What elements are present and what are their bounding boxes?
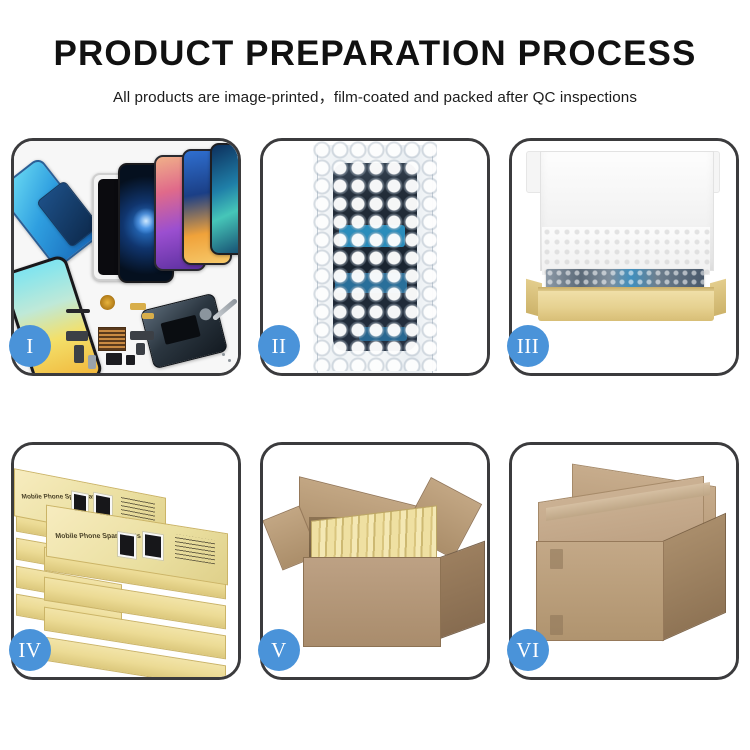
mailer-front-panel — [538, 291, 714, 321]
page-header: PRODUCT PREPARATION PROCESS All products… — [0, 0, 750, 107]
flex-cable-part-c — [130, 331, 154, 340]
phone-teal-wave-back — [210, 143, 238, 255]
step-badge-5: V — [258, 629, 300, 671]
mesh-grid-part — [98, 327, 126, 351]
step-panel-6: VI — [509, 442, 739, 680]
screw-part-a — [222, 353, 225, 356]
flex-cable-part-d — [136, 343, 145, 355]
foam-insert — [542, 227, 710, 275]
bubble-texture-overlay — [313, 141, 437, 371]
flex-cable-part-a — [66, 331, 88, 341]
gold-bracket-part — [142, 313, 154, 319]
speaker-coil-part — [100, 295, 115, 310]
retail-box-label-top: Mobile Phone Spare Parts — [21, 493, 101, 500]
step-badge-2: II — [258, 325, 300, 367]
step-panel-1: I — [11, 138, 241, 376]
earpiece-mesh-part — [66, 309, 90, 313]
gold-connector-part — [130, 303, 146, 310]
step-badge-1: I — [9, 325, 51, 367]
step-badge-3: III — [507, 325, 549, 367]
camera-module-part — [106, 353, 122, 365]
step-panel-5: V — [260, 442, 490, 680]
sim-tray-part — [88, 355, 96, 369]
screw-part-b — [228, 359, 231, 362]
carton-tab-lower — [550, 615, 563, 635]
page-subtitle: All products are image-printed，film-coat… — [0, 73, 750, 107]
step-panel-4: Mobile Phone Spare Parts Mobile Phone Sp… — [11, 442, 241, 680]
step-badge-4: IV — [9, 629, 51, 671]
box-window-front-b — [142, 531, 164, 561]
step-badge-6: VI — [507, 629, 549, 671]
step-panel-2: II — [260, 138, 490, 376]
process-step-grid: I II III — [11, 138, 739, 680]
step-panel-3: III — [509, 138, 739, 376]
carton-tab-upper — [550, 549, 563, 569]
box-window-front-a — [117, 531, 137, 560]
page-title: PRODUCT PREPARATION PROCESS — [0, 0, 750, 73]
carton-front — [303, 557, 441, 647]
vibrator-part — [126, 355, 135, 365]
carton-side-right — [439, 541, 485, 640]
flex-cable-part-b — [74, 345, 84, 363]
